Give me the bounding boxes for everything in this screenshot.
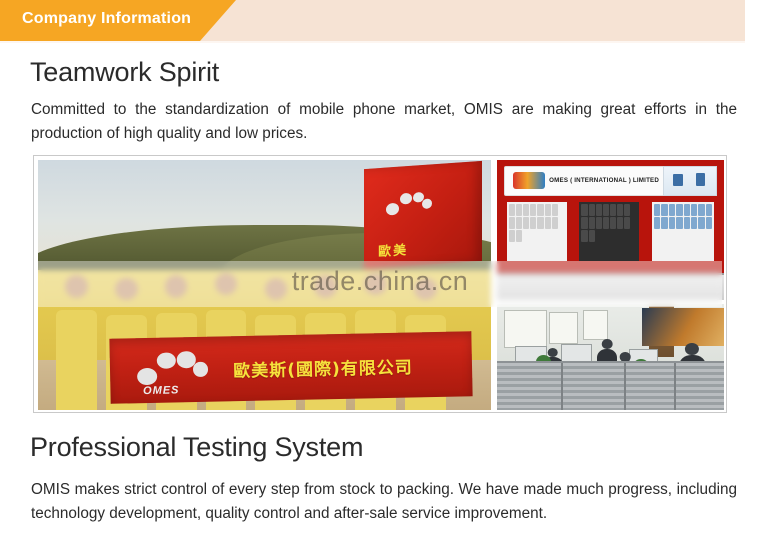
omes-red-banner: OMES 歐美斯(國際)有限公司	[110, 331, 474, 404]
image-gallery: 歐美 OMES 歐美斯(國際)有限公司 OMES ( INTERNATIONAL…	[33, 155, 727, 413]
display-case	[649, 199, 717, 263]
page-title-testing: Professional Testing System	[30, 432, 363, 463]
ribbon-label: Company Information	[22, 10, 191, 28]
cubicle-partition	[497, 361, 724, 410]
display-case	[504, 199, 570, 263]
omes-paw-logo	[383, 190, 432, 219]
staff-head	[314, 275, 337, 298]
staff-head	[414, 278, 437, 301]
staff-head	[364, 273, 387, 296]
page-title-teamwork: Teamwork Spirit	[30, 57, 219, 88]
monitor	[561, 344, 593, 363]
display-case	[576, 199, 642, 263]
red-flag: 歐美	[364, 161, 482, 269]
cubicle-divider	[674, 363, 676, 410]
staff-head	[65, 275, 88, 298]
shop-signboard: OMES ( INTERNATIONAL ) LIMITED	[504, 166, 665, 196]
staff-head	[115, 278, 138, 301]
wall-poster	[583, 310, 608, 340]
team-beach-photo: 歐美 OMES 歐美斯(國際)有限公司	[38, 160, 491, 410]
shop-counter	[497, 273, 724, 300]
header-band: Company Information	[0, 0, 745, 43]
wall-poster	[504, 310, 547, 348]
staff-head	[215, 273, 238, 296]
shop-showroom-photo: OMES ( INTERNATIONAL ) LIMITED	[497, 160, 724, 300]
wall-display-panel	[663, 166, 717, 196]
cubicle-divider	[561, 363, 563, 410]
body-text-teamwork: Committed to the standardization of mobi…	[31, 98, 737, 146]
office-photo	[497, 304, 724, 410]
banner-chinese-text: 歐美斯(國際)有限公司	[233, 352, 413, 381]
staff-head	[165, 275, 188, 298]
wall-poster	[549, 312, 578, 344]
omes-logo-icon	[513, 172, 545, 189]
staff-head	[265, 278, 288, 301]
flag-chinese-text: 歐美	[378, 239, 408, 260]
wall-mural	[642, 308, 724, 346]
cubicle-divider	[624, 363, 626, 410]
staff-figure	[56, 310, 97, 410]
omes-wordmark: OMES	[143, 384, 180, 397]
shop-sign-text: OMES ( INTERNATIONAL ) LIMITED	[545, 177, 664, 184]
body-text-testing: OMIS makes strict control of every step …	[31, 478, 737, 526]
